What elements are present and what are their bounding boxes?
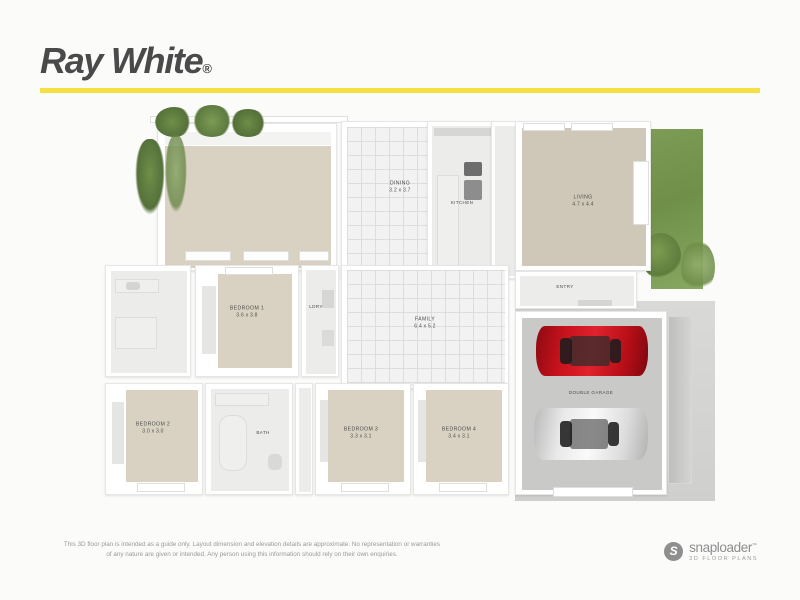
floor-plan-page: Ray White® D <box>0 0 800 600</box>
ensuite-shower <box>116 318 156 348</box>
living-window-b <box>572 124 612 130</box>
snaploader-name: snaploader™ <box>689 540 758 556</box>
trademark-mark: ™ <box>752 543 757 549</box>
bath-wc <box>268 454 282 470</box>
planter-foliage-b <box>191 105 233 137</box>
bedroom3-floor <box>328 390 404 482</box>
garage-side-wall <box>669 317 691 483</box>
bedroom4-window <box>440 484 486 491</box>
car-red-windshield <box>560 338 572 364</box>
bedroom2-robe <box>112 402 124 464</box>
alfresco-floor <box>165 146 331 268</box>
garage-door <box>554 488 632 496</box>
bedroom3-shell <box>315 383 411 495</box>
disclaimer-text: This 3D floor plan is intended as a guid… <box>62 540 442 561</box>
planter-foliage-a <box>155 107 193 137</box>
kitchen-sink <box>464 180 482 200</box>
bath-shell <box>205 383 293 495</box>
shrub-lawn-b <box>681 241 715 293</box>
snaploader-tagline: 3D FLOOR PLANS <box>689 556 758 563</box>
entry-shell <box>515 271 637 309</box>
hallway-shell <box>295 383 313 495</box>
bedroom1-wardrobe <box>202 286 216 354</box>
kitchen-cooktop <box>464 162 482 176</box>
car-red <box>536 326 648 376</box>
entry-floor <box>520 276 634 306</box>
ldry-shell <box>301 265 339 377</box>
garage-shell <box>515 311 667 495</box>
family-floor <box>347 270 505 386</box>
living-sliding-door <box>634 162 648 224</box>
pantry-hall-floor <box>495 126 515 276</box>
ldry-floor <box>306 270 336 374</box>
car-white-windshield <box>560 421 572 447</box>
alfresco-step-a <box>186 252 230 260</box>
bedroom2-floor <box>126 390 198 482</box>
kitchen-island <box>438 176 458 270</box>
living-floor <box>522 128 646 266</box>
ldry-tub <box>322 330 334 346</box>
ensuite-shell <box>105 265 191 377</box>
bedroom3-window <box>342 484 388 491</box>
car-white-roof <box>570 419 608 449</box>
car-white <box>534 408 648 460</box>
bedroom4-floor <box>426 390 502 482</box>
living-shell <box>515 121 651 271</box>
pantry-hall <box>491 121 517 279</box>
bath-tub <box>220 416 246 470</box>
bedroom1-shell <box>195 265 299 377</box>
bedroom3-robe <box>320 400 328 462</box>
climber-foliage-left <box>135 139 165 215</box>
bedroom2-window <box>138 484 184 491</box>
car-red-roof <box>570 336 610 366</box>
bedroom1-window <box>226 268 272 274</box>
bedroom4-robe <box>418 400 426 462</box>
living-window-a <box>524 124 564 130</box>
snaploader-wordmark: snaploader™ 3D FLOOR PLANS <box>689 540 758 563</box>
kitchen-shell <box>427 121 497 279</box>
entry-front-door <box>578 300 612 306</box>
bath-vanity <box>216 394 268 405</box>
planter-foliage-c <box>229 109 267 137</box>
hallway-floor <box>299 388 311 492</box>
snaploader-s-icon: S <box>664 542 683 561</box>
kitchen-overhead-cabinets <box>434 128 492 136</box>
climber-foliage-inner <box>165 135 187 213</box>
car-white-rear-window <box>608 422 619 446</box>
alfresco-step-b <box>244 252 288 260</box>
car-red-rear-window <box>610 339 621 363</box>
bedroom4-shell <box>413 383 509 495</box>
snaploader-logo: S snaploader™ 3D FLOOR PLANS <box>664 540 758 563</box>
bedroom1-floor <box>218 274 292 368</box>
floor-plan-graphic: DINING 3.2 x 3.7 KITCHEN <box>95 105 715 515</box>
bedroom2-shell <box>105 383 203 495</box>
disclaimer-line-1: This 3D floor plan is intended as a guid… <box>64 541 402 548</box>
alfresco-step-c <box>300 252 328 260</box>
family-shell <box>341 265 509 389</box>
ensuite-basin <box>126 282 140 290</box>
registered-mark: ® <box>202 61 212 76</box>
ray-white-logo: Ray White® <box>40 40 212 82</box>
brand-name: Ray White <box>40 40 202 81</box>
yellow-divider-rule <box>40 88 760 93</box>
ldry-appliance <box>322 290 334 308</box>
